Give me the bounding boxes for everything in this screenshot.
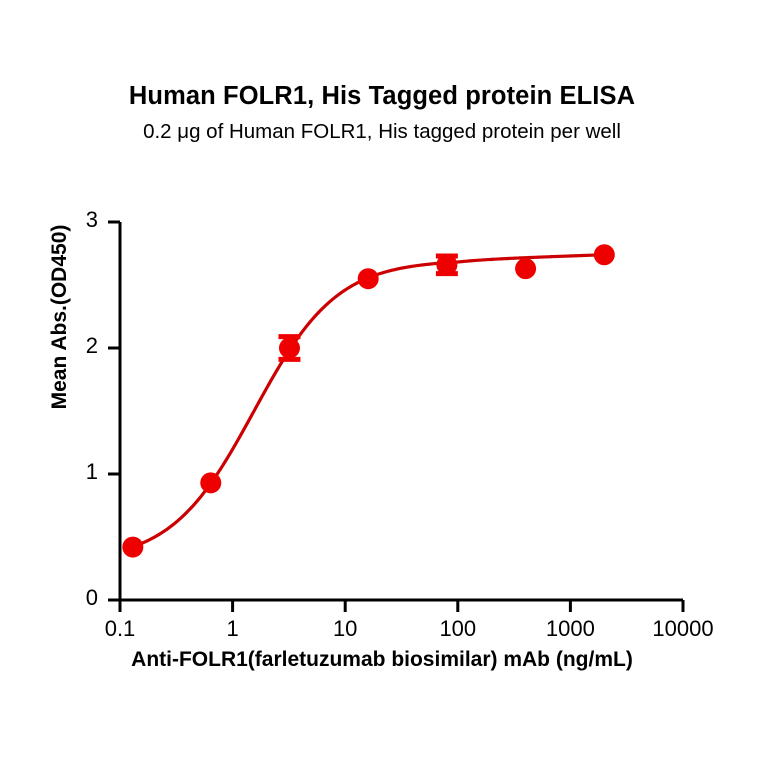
- fit-curve: [133, 255, 604, 547]
- data-point: [279, 338, 300, 359]
- y-axis-title: Mean Abs.(OD450): [48, 197, 72, 437]
- y-tick-label: 3: [58, 207, 98, 233]
- x-tick-label: 100: [398, 616, 518, 642]
- y-tick-label: 1: [58, 459, 98, 485]
- data-point: [200, 472, 221, 493]
- x-tick-label: 10000: [623, 616, 743, 642]
- data-point: [515, 258, 536, 279]
- y-tick-label: 2: [58, 333, 98, 359]
- y-tick-label: 0: [58, 585, 98, 611]
- x-tick-label: 1: [173, 616, 293, 642]
- x-tick-label: 0.1: [60, 616, 180, 642]
- x-tick-label: 10: [285, 616, 405, 642]
- data-point: [594, 244, 615, 265]
- elisa-chart-figure: Human FOLR1, His Tagged protein ELISA 0.…: [0, 0, 764, 764]
- data-point: [358, 268, 379, 289]
- data-point: [122, 537, 143, 558]
- x-tick-label: 1000: [510, 616, 630, 642]
- data-point: [436, 254, 457, 275]
- x-axis-title: Anti-FOLR1(farletuzumab biosimilar) mAb …: [0, 648, 764, 672]
